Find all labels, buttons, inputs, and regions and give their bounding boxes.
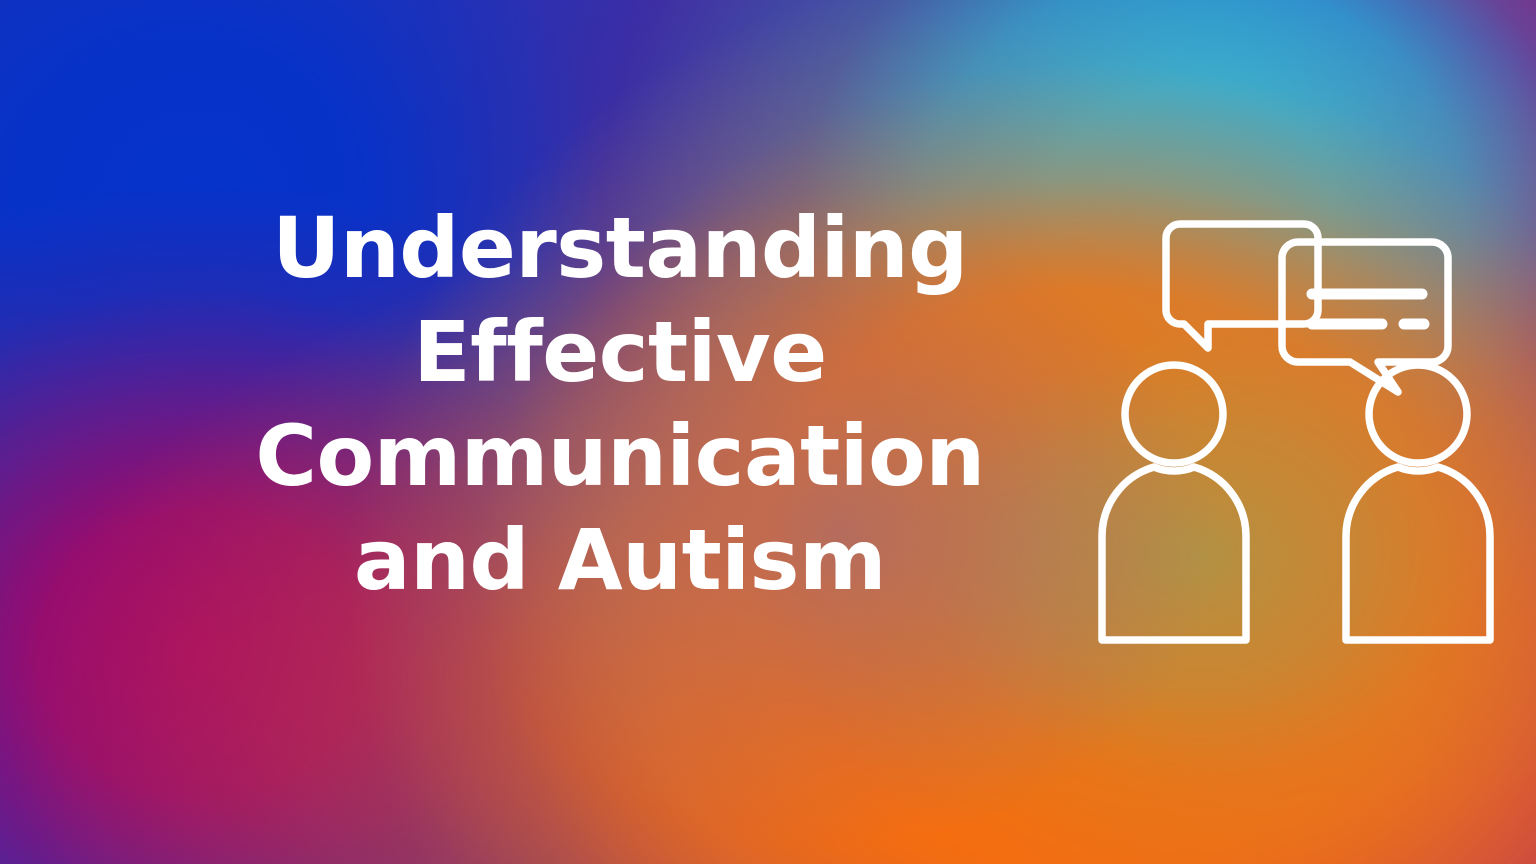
title-line-1: Understanding <box>128 196 1112 300</box>
page-title: Understanding Effective Communication an… <box>128 196 1112 613</box>
title-line-3: Communication <box>128 404 1112 508</box>
two-people-conversation-icon <box>1088 206 1524 658</box>
title-line-4: and Autism <box>128 508 1112 612</box>
person-left-head-icon <box>1125 365 1223 463</box>
person-right-body-icon <box>1346 467 1490 640</box>
speech-bubble-right-icon <box>1282 242 1448 392</box>
person-left-body-icon <box>1102 467 1246 640</box>
title-line-2: Effective <box>128 300 1112 404</box>
person-right-head-icon <box>1369 365 1467 463</box>
slide-root: Understanding Effective Communication an… <box>0 0 1536 864</box>
